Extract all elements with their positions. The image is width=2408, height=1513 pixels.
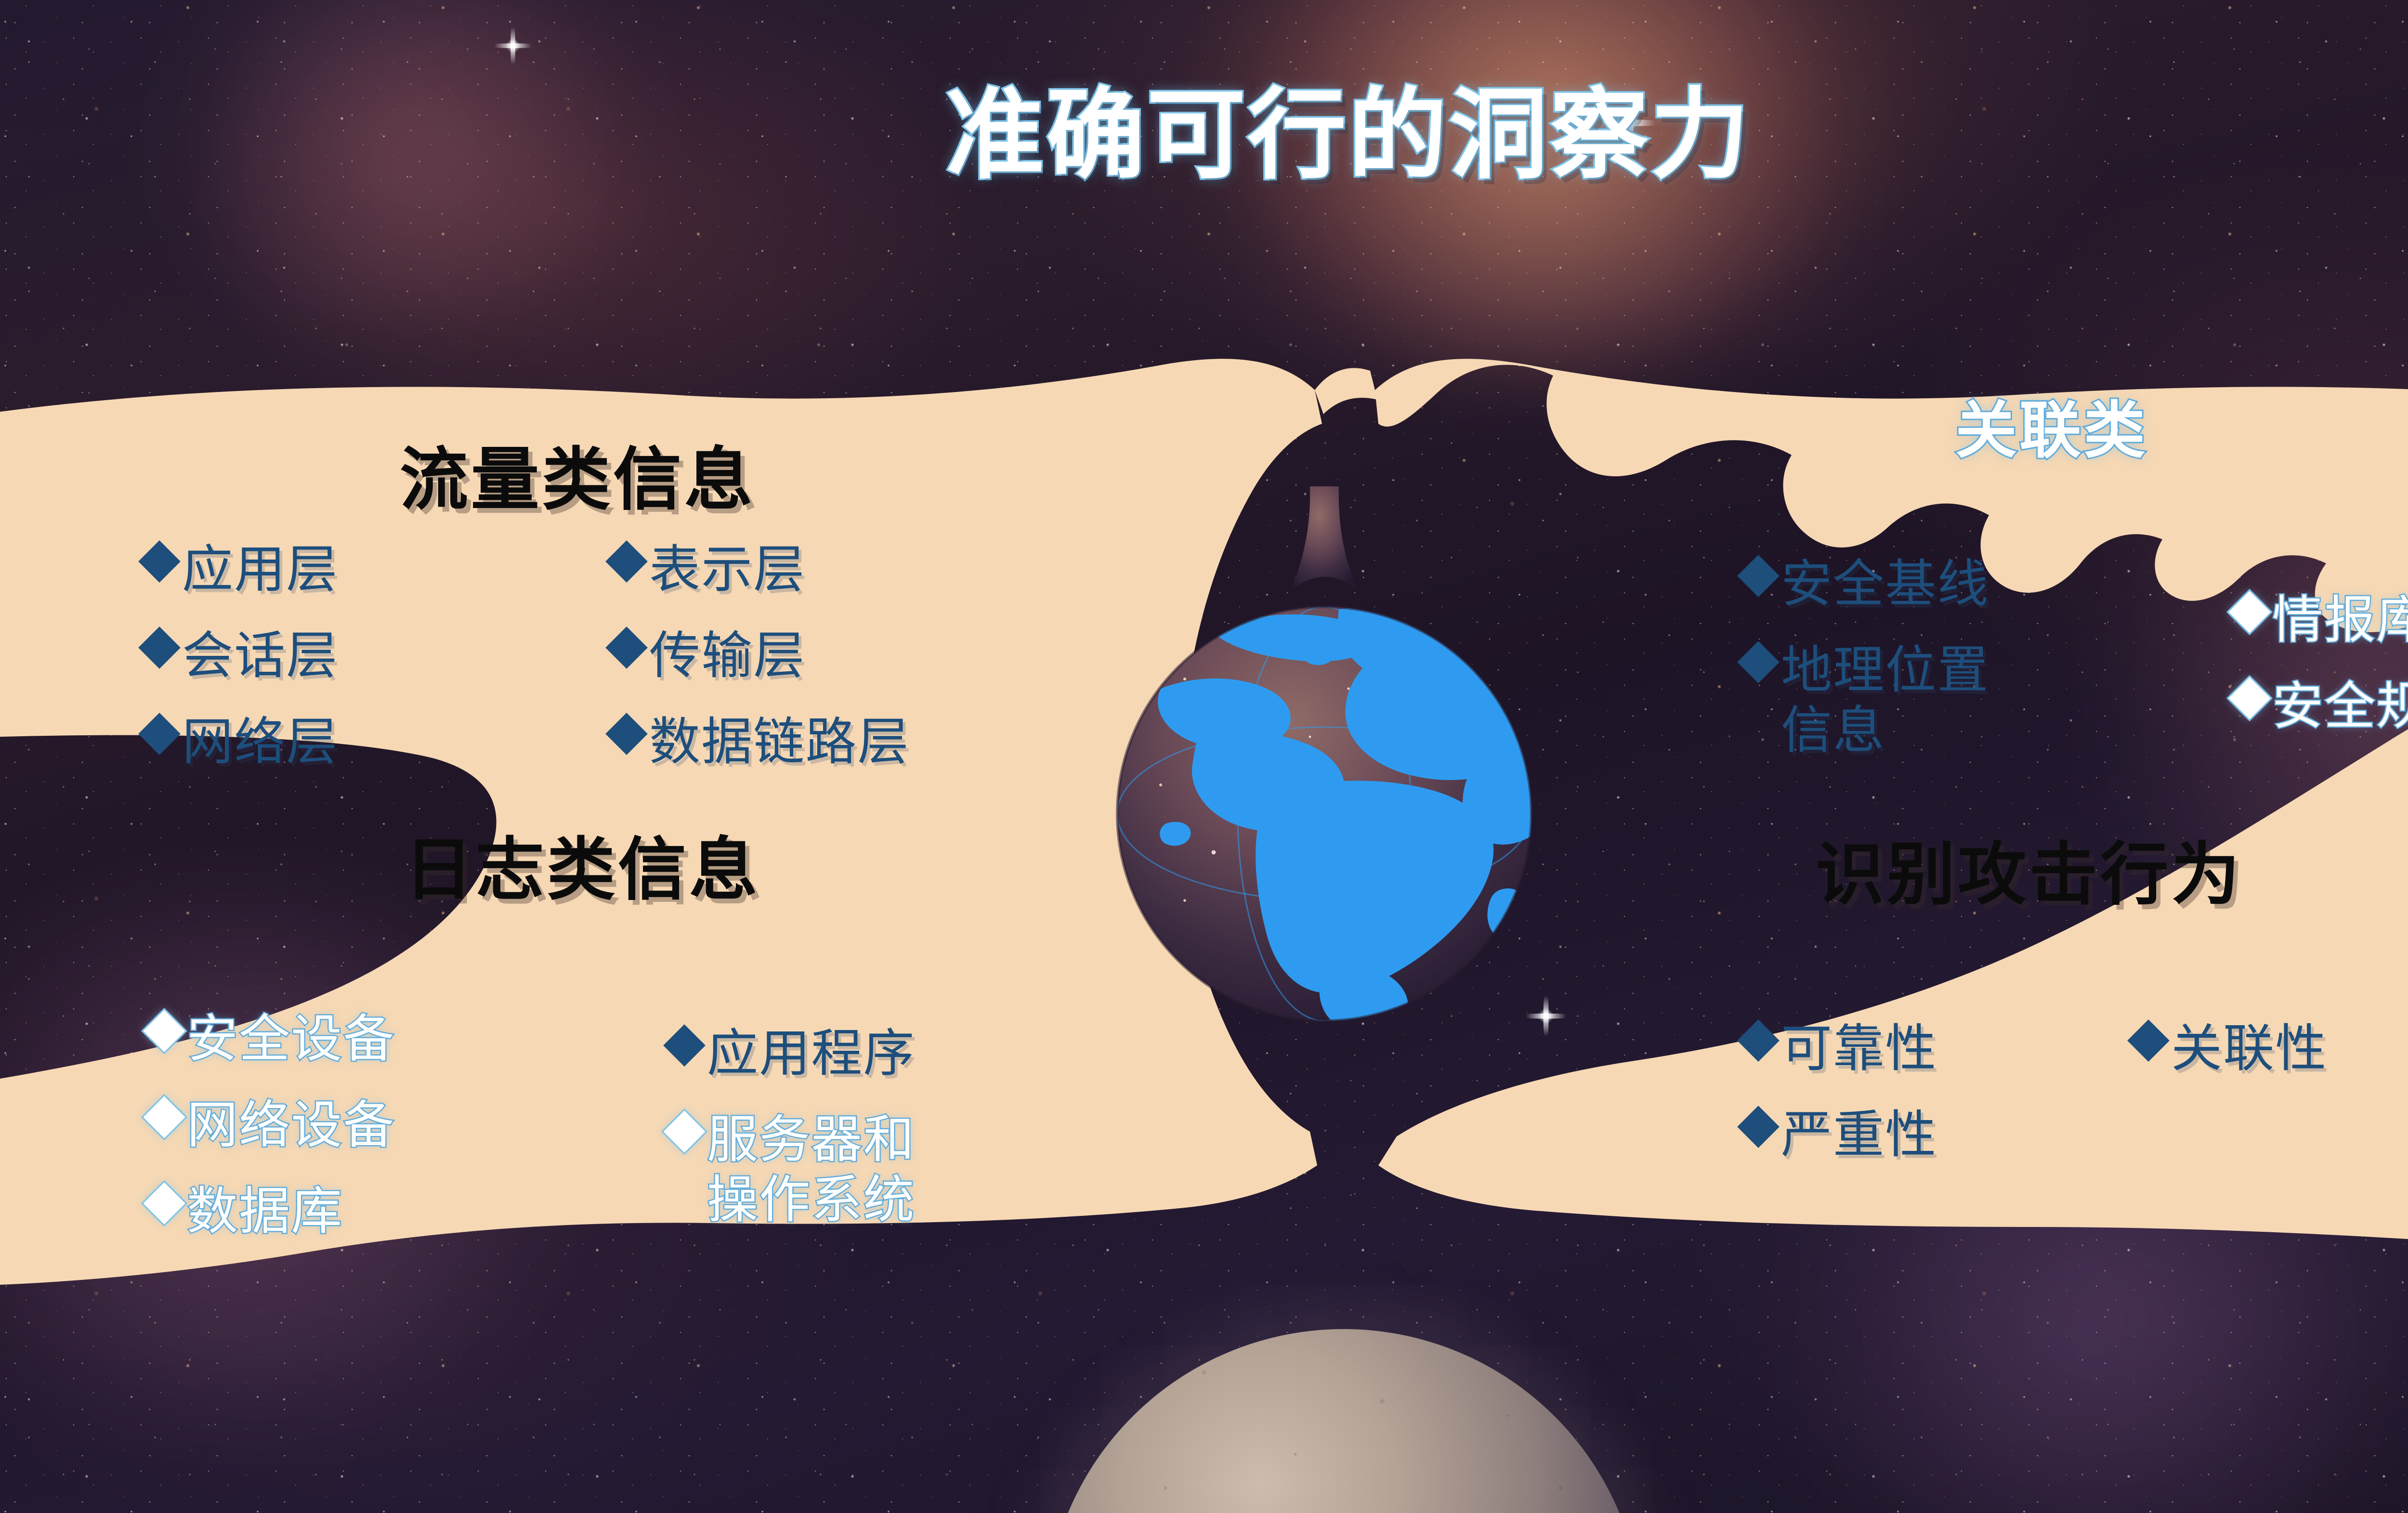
bullet-list-association-col2: 情报库 安全规则 <box>2235 573 2408 763</box>
list-item[interactable]: 安全设备 <box>149 1009 395 1070</box>
diamond-bullet-icon <box>144 719 174 749</box>
page-title: 准确可行的洞察力 <box>0 82 2408 191</box>
diamond-bullet-icon <box>612 547 641 576</box>
bullet-list-association-col1: 安全基线 地理位置 信息 <box>1743 537 1989 787</box>
list-item-label: 关联性 <box>2171 1019 2327 1079</box>
section-heading-association: 关联类 <box>1955 380 2147 470</box>
list-item[interactable]: 可靠性 <box>1743 1019 1937 1079</box>
list-item[interactable]: 安全规则 <box>2235 677 2408 737</box>
diamond-bullet-icon <box>2235 597 2264 627</box>
list-item-label: 严重性 <box>1781 1105 1937 1165</box>
peach-wing-shape <box>0 0 2408 1513</box>
diamond-bullet-icon <box>2235 683 2264 713</box>
list-item[interactable]: 情报库 <box>2235 590 2408 651</box>
diamond-bullet-icon <box>612 719 641 749</box>
diamond-bullet-icon <box>149 1188 179 1218</box>
list-item[interactable]: 严重性 <box>1743 1105 1937 1165</box>
bullet-list-attack-col2: 关联性 <box>2133 1002 2327 1105</box>
list-item-label: 情报库 <box>2272 590 2408 651</box>
bullet-list-attack-col1: 可靠性 严重性 <box>1743 1002 1937 1191</box>
list-item[interactable]: 数据库 <box>149 1182 395 1242</box>
list-item-label: 数据库 <box>187 1182 343 1242</box>
list-item-label: 网络设备 <box>187 1096 395 1156</box>
slide-canvas: 准确可行的洞察力 流量类信息 应用层 会话层 网络层 表示层 传输层 数据链路层 <box>0 0 2408 1513</box>
list-item-label: 服务器和 操作系统 <box>707 1110 915 1230</box>
section-heading-attack: 识别攻击行为 <box>1816 819 2242 918</box>
diamond-bullet-icon <box>1743 1112 1773 1142</box>
list-item-label: 应用层 <box>182 540 338 600</box>
list-item[interactable]: 会话层 <box>144 626 338 686</box>
list-item-label: 表示层 <box>649 540 805 600</box>
list-item[interactable]: 地理位置 信息 <box>1743 640 1989 761</box>
bullet-list-traffic-col2: 表示层 传输层 数据链路层 <box>612 522 910 798</box>
list-item[interactable]: 表示层 <box>612 540 910 600</box>
list-item[interactable]: 网络层 <box>144 712 338 772</box>
list-item-label: 安全规则 <box>2272 677 2408 737</box>
list-item-label: 数据链路层 <box>649 712 910 772</box>
diamond-bullet-icon <box>149 1016 179 1046</box>
diamond-bullet-icon <box>144 633 174 663</box>
section-heading-traffic: 流量类信息 <box>400 424 755 523</box>
diamond-bullet-icon <box>1743 1026 1773 1056</box>
bullet-list-log-col2: 应用程序 服务器和 操作系统 <box>669 1006 915 1256</box>
section-heading-log: 日志类信息 <box>405 814 760 913</box>
list-item[interactable]: 传输层 <box>612 626 910 686</box>
list-item[interactable]: 关联性 <box>2133 1019 2327 1079</box>
diamond-bullet-icon <box>144 547 174 576</box>
diamond-bullet-icon <box>1743 561 1773 591</box>
list-item-label: 安全设备 <box>187 1009 395 1070</box>
list-item-label: 网络层 <box>182 712 338 772</box>
list-item[interactable]: 数据链路层 <box>612 712 910 772</box>
list-item-label: 会话层 <box>182 626 338 686</box>
diamond-bullet-icon <box>669 1030 699 1060</box>
diamond-bullet-icon <box>669 1117 699 1147</box>
list-item[interactable]: 服务器和 操作系统 <box>669 1110 915 1230</box>
diamond-bullet-icon <box>612 633 641 663</box>
diamond-bullet-icon <box>1743 647 1773 677</box>
list-item-label: 传输层 <box>649 626 805 686</box>
list-item-label: 可靠性 <box>1781 1019 1937 1079</box>
bullet-list-log-col1: 安全设备 网络设备 数据库 <box>149 992 395 1268</box>
bullet-list-traffic-col1: 应用层 会话层 网络层 <box>144 522 338 798</box>
list-item-label: 应用程序 <box>707 1024 915 1084</box>
list-item-label: 地理位置 信息 <box>1781 640 1989 761</box>
list-item-label: 安全基线 <box>1781 554 1989 614</box>
diamond-bullet-icon <box>149 1102 179 1132</box>
list-item[interactable]: 应用层 <box>144 540 338 600</box>
list-item[interactable]: 应用程序 <box>669 1024 915 1084</box>
list-item[interactable]: 网络设备 <box>149 1096 395 1156</box>
diamond-bullet-icon <box>2133 1026 2163 1056</box>
list-item[interactable]: 安全基线 <box>1743 554 1989 614</box>
